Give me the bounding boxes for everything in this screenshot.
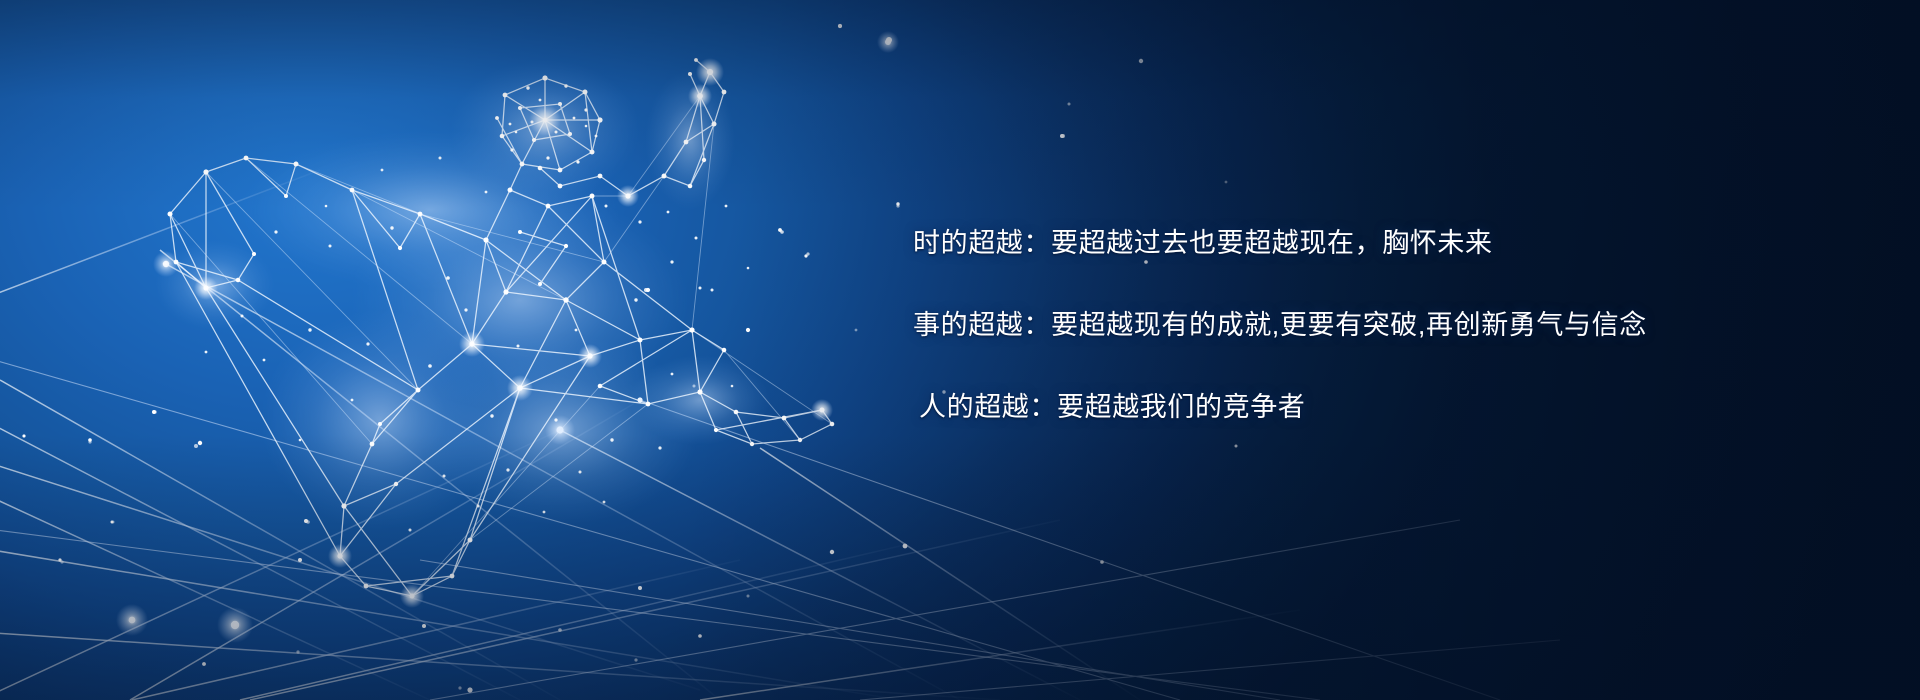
slogan-text-block: 时的超越：要超越过去也要超越现在，胸怀未来 事的超越：要超越现有的成就,更要有突… (913, 228, 1873, 422)
slogan-line-3: 人的超越：要超越我们的竞争者 (913, 392, 1873, 422)
slogan-line-1: 时的超越：要超越过去也要超越现在，胸怀未来 (913, 228, 1873, 258)
slogan-line-2: 事的超越：要超越现有的成就,更要有突破,再创新勇气与信念 (913, 310, 1873, 340)
banner-stage: 时的超越：要超越过去也要超越现在，胸怀未来 事的超越：要超越现有的成就,更要有突… (0, 0, 1920, 700)
